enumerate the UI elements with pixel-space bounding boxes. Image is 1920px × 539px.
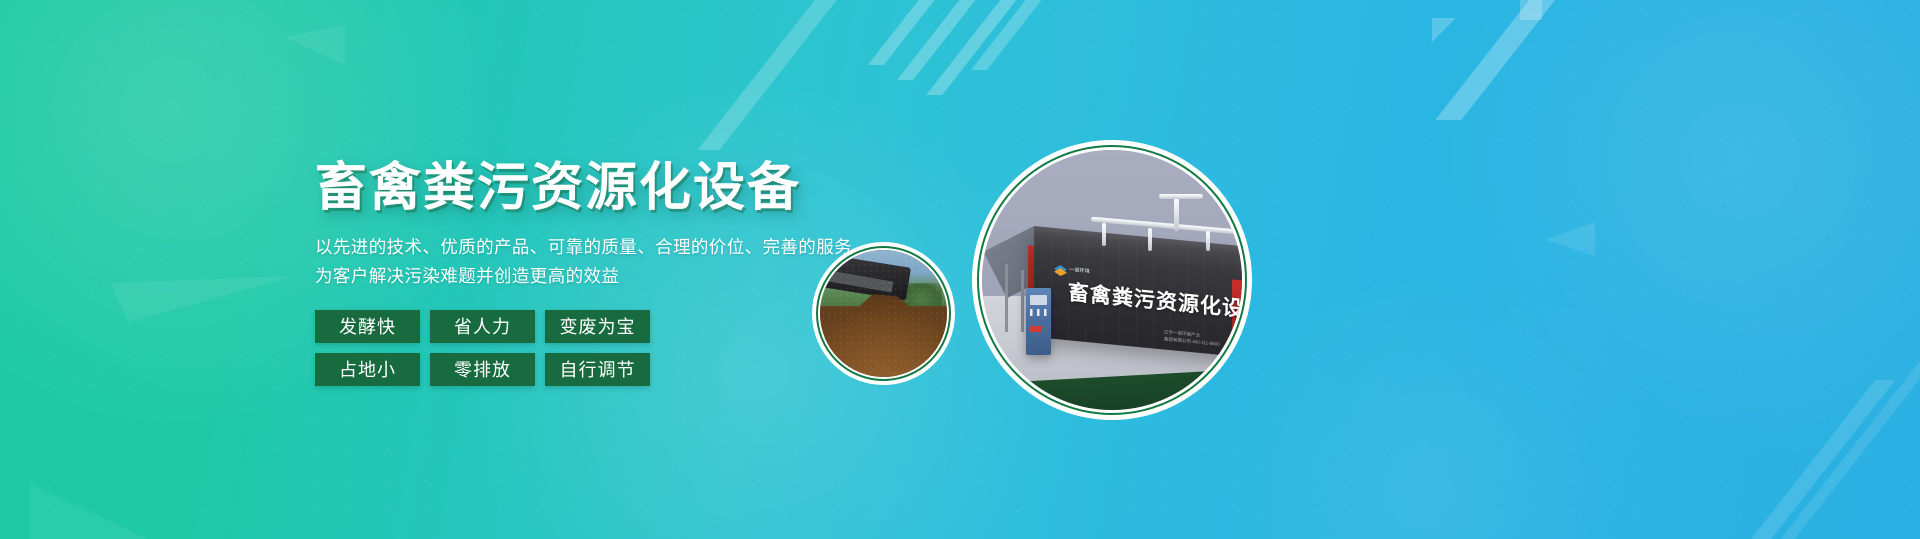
decor-triangle-left [110, 250, 295, 322]
brand-diamond-icon [1054, 262, 1067, 274]
equipment-render-circle[interactable]: 一诺环境 畜禽粪污资源化设备 辽宁一诺环境产业 集团有限公司 400-111-8… [972, 140, 1252, 420]
compost-photo-circle[interactable] [812, 242, 955, 385]
decor-triangle-midright [1545, 222, 1595, 256]
diagonal-stripe-4 [926, 0, 1040, 95]
control-panel-screen [1030, 295, 1048, 306]
render-conveyor-leg-1 [1005, 264, 1008, 332]
diagonal-stripe-5 [971, 0, 1065, 70]
decor-triangle-topleft [285, 25, 345, 65]
compost-grain-texture [820, 250, 947, 377]
background-noise-texture [0, 0, 1920, 539]
background-glow-right [1420, 0, 1920, 470]
render-pipe-vent-cap [1159, 194, 1203, 199]
feature-tag-list: 发酵快 省人力 变废为宝 占地小 零排放 自行调节 [315, 310, 650, 386]
diagonal-stripe-1 [697, 0, 844, 150]
render-control-panel [1026, 288, 1051, 356]
diagonal-stripe-2 [868, 0, 958, 65]
feature-tag-2[interactable]: 变废为宝 [545, 310, 650, 343]
diagonal-stripe-8 [1780, 330, 1920, 539]
brand-logo-text: 一诺环境 [1069, 265, 1090, 274]
feature-tag-3[interactable]: 占地小 [315, 353, 420, 386]
control-panel-red-switch [1030, 326, 1043, 332]
diagonal-stripe-6 [1435, 0, 1570, 120]
background-glow-lower-right [1180, 280, 1700, 539]
banner-root: 畜禽粪污资源化设备 以先进的技术、优质的产品、可靠的质量、合理的价位、完善的服务… [0, 0, 1920, 539]
diagonal-stripe-7 [1735, 380, 1896, 539]
render-conveyor-leg-2 [1021, 270, 1024, 332]
feature-tag-1[interactable]: 省人力 [430, 310, 535, 343]
render-pipe-vent [1174, 197, 1179, 231]
render-pipe-riser-2 [1148, 228, 1152, 251]
compost-photo-inner [820, 250, 947, 377]
feature-tag-0[interactable]: 发酵快 [315, 310, 420, 343]
render-pipe-riser-1 [1102, 223, 1106, 246]
equipment-render-image: 一诺环境 畜禽粪污资源化设备 辽宁一诺环境产业 集团有限公司 400-111-8… [982, 150, 1242, 410]
feature-tag-4[interactable]: 零排放 [430, 353, 535, 386]
compost-photo-image [820, 250, 947, 377]
banner-title: 畜禽粪污资源化设备 [315, 160, 915, 217]
decor-square-top [1520, 0, 1542, 20]
diagonal-stripe-3 [897, 0, 999, 80]
render-pipe-riser-3 [1206, 231, 1210, 252]
equipment-render-inner: 一诺环境 畜禽粪污资源化设备 辽宁一诺环境产业 集团有限公司 400-111-8… [982, 150, 1242, 410]
decor-triangle-bottomleft [30, 470, 150, 539]
feature-tag-5[interactable]: 自行调节 [545, 353, 650, 386]
control-panel-buttons [1030, 309, 1047, 316]
decor-triangle-topright [1432, 18, 1456, 42]
